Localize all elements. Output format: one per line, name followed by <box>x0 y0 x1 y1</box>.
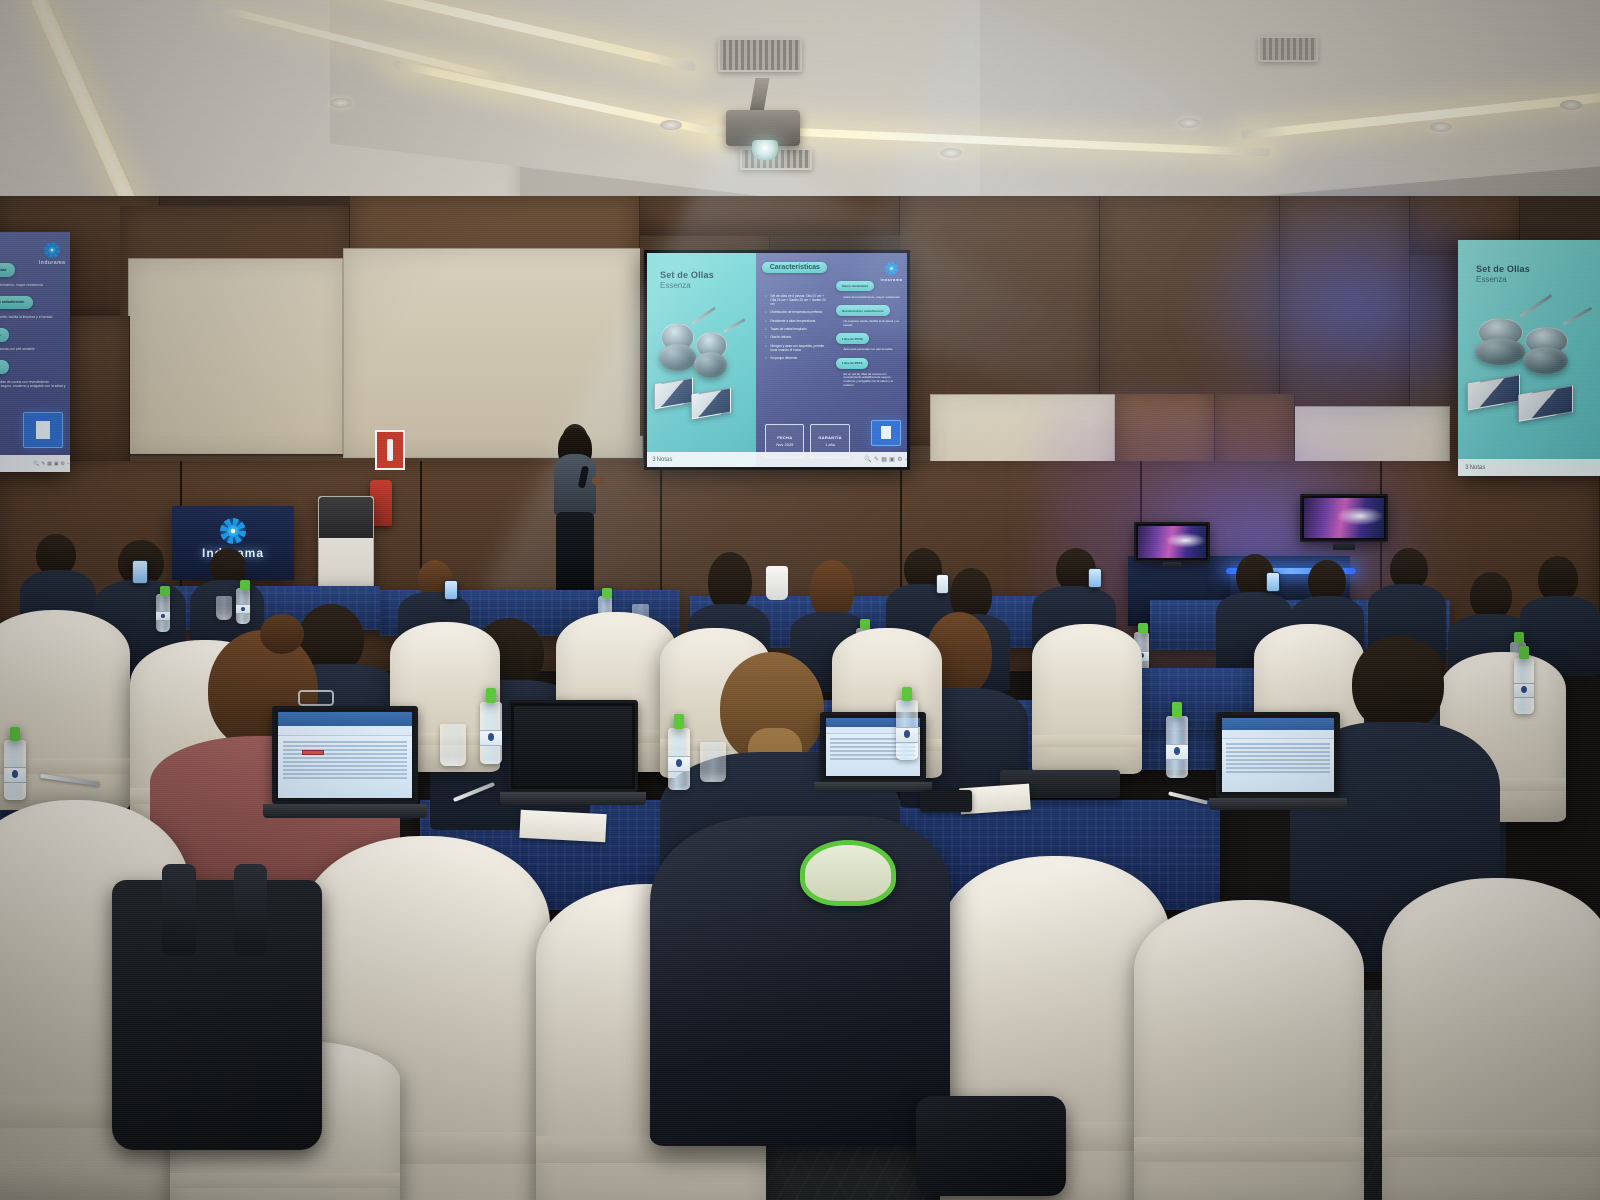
laptop-lid <box>508 700 638 792</box>
pointer-icon[interactable]: ✎ <box>874 456 879 463</box>
brand-logo: Indurama <box>39 242 66 266</box>
backpack[interactable] <box>112 880 322 1150</box>
callout: Mayor durabilidad Color del recubrimient… <box>0 263 65 287</box>
info-box-label: GARANTÍA <box>818 435 842 440</box>
callout-label: Recubrimiento antiadherente <box>836 305 889 316</box>
tv-screen <box>1134 522 1210 562</box>
pointer-icon[interactable]: ✎ <box>41 461 45 467</box>
slide-product-title: Set de Ollas <box>660 271 743 280</box>
presentation-status-bar[interactable]: 3 Notas ▦ <box>1458 459 1600 476</box>
paper-cup[interactable] <box>766 566 788 600</box>
backpack-strap <box>234 864 268 956</box>
callout: Recubrimiento antiadherente No requiere … <box>0 296 65 320</box>
center-projection-screen[interactable]: Set de Ollas Essenza Características <box>644 250 910 470</box>
callout: Libre de PFAS Es un set de ollas de coci… <box>0 360 65 392</box>
water-bottle[interactable] <box>480 702 502 764</box>
callout-text: No requiere aceite, facilita la limpieza… <box>836 320 902 327</box>
tv-screen <box>1300 494 1388 542</box>
banquet-chair <box>1134 900 1364 1200</box>
drinking-glass[interactable] <box>216 596 232 620</box>
pan-handle <box>723 318 745 333</box>
drinking-glass[interactable] <box>440 724 466 766</box>
presenter-hand <box>592 476 604 485</box>
pan-handle <box>1562 307 1592 326</box>
callout-text: Es un set de ollas de cocina con revesti… <box>836 373 902 387</box>
hvac-vent <box>718 38 802 72</box>
cap[interactable] <box>800 840 896 906</box>
info-box-label: FECHA <box>777 435 792 440</box>
presentation-status-bar[interactable]: 3 Notas 🔍 ✎ ▦ ▣ ⚙ − ⤢ <box>647 452 907 467</box>
tv-stand <box>1163 562 1181 568</box>
callout: Recubrimiento antiadherente No requiere … <box>836 305 902 327</box>
attendee-head <box>1352 636 1444 732</box>
callout-text: Color del recubrimiento, mayor resistenc… <box>0 283 65 287</box>
slide-product-subtitle: Essenza <box>1476 275 1590 284</box>
grid-icon[interactable]: ▦ <box>881 456 887 463</box>
settings-icon[interactable]: ⚙ <box>60 461 64 467</box>
product-box <box>654 377 693 408</box>
flower-gear-icon <box>220 518 246 544</box>
recessed-downlight <box>660 120 682 130</box>
callout-text: Color del recubrimiento, mayor resistenc… <box>836 296 902 300</box>
attendee-head <box>810 560 854 620</box>
slide-indicator: 3 <box>652 457 655 463</box>
slide-right-panel: Indurama Mayor durabilidad Color del rec… <box>0 232 70 472</box>
slide-surface-right: Set de Ollas Essenza <box>1458 240 1600 476</box>
laptop-screen <box>278 712 412 798</box>
small-tv-left[interactable] <box>1134 522 1210 562</box>
brand-logo: Indurama <box>880 262 902 282</box>
attendee-head <box>708 552 752 612</box>
notes-button[interactable]: Notas <box>1470 465 1486 471</box>
slide-left-panel: Set de Ollas Essenza <box>647 253 756 467</box>
callout-text: Apto para personas con piel sensible <box>0 347 65 351</box>
banquet-chair <box>1382 878 1600 1200</box>
highlighted-cell <box>302 750 323 755</box>
water-bottle[interactable] <box>896 700 918 760</box>
laptop-lid <box>272 706 418 804</box>
water-bottle[interactable] <box>668 728 690 790</box>
pan-handle <box>1520 294 1553 318</box>
bullet-item: ▪Tapas de cristal templado <box>765 327 828 331</box>
slide-product-subtitle: Essenza <box>660 281 743 290</box>
presenter-icon[interactable]: ▣ <box>889 456 895 463</box>
slide-callouts: Mayor durabilidad Color del recubrimient… <box>0 263 65 400</box>
recessed-downlight <box>1178 118 1200 128</box>
recessed-downlight <box>940 148 962 158</box>
callout-text: Es un set de ollas de cocina con revesti… <box>0 380 65 392</box>
conference-room-photo: Indurama Mayor durabilidad Color del rec… <box>0 0 1600 1200</box>
smartphone[interactable] <box>920 790 972 812</box>
attendee-head <box>1470 572 1512 620</box>
callout-label: Recubrimiento antiadherente <box>0 296 33 310</box>
cooking-pot <box>1523 347 1568 374</box>
grid-icon[interactable]: ▦ <box>47 461 52 467</box>
bullet-item: ▪Set de ollas de 6 piezas: Olla 20 cm + … <box>765 294 828 306</box>
slide-feature-bullets: ▪Set de ollas de 6 piezas: Olla 20 cm + … <box>765 294 828 365</box>
projector-lens <box>752 140 778 160</box>
callout-text: Apto para personas con piel sensible <box>836 348 902 352</box>
laptop-base <box>263 804 427 818</box>
windows-security-icon <box>871 420 901 446</box>
notepad[interactable] <box>519 810 606 842</box>
wall-cream-panel <box>128 258 343 454</box>
settings-icon[interactable]: ⚙ <box>897 456 902 463</box>
callout-text: No requiere aceite, facilita la limpieza… <box>0 315 65 319</box>
callout: Libre de PFOA Apto para personas con pie… <box>836 333 902 352</box>
presenter <box>540 424 610 614</box>
zoom-icon[interactable]: 🔍 <box>33 461 39 467</box>
product-image-pots <box>656 317 748 420</box>
pan-handle <box>692 307 716 325</box>
tv-stand <box>1333 542 1354 550</box>
bullet-item: ▪Resistente a altas temperaturas <box>765 319 828 323</box>
callout-label: Libre de PFOA <box>836 333 869 344</box>
fire-extinguisher-sign <box>375 430 405 470</box>
flower-gear-icon <box>885 262 898 275</box>
laptop-lid <box>1216 712 1340 798</box>
notes-button[interactable]: Notas <box>657 457 673 463</box>
zoom-icon[interactable]: 🔍 <box>864 456 871 463</box>
windows-security-icon <box>23 412 63 448</box>
smartphone[interactable] <box>132 560 148 584</box>
slide-section-heading: Características <box>762 262 827 274</box>
recessed-downlight <box>1560 100 1582 110</box>
laptop-base <box>814 782 933 792</box>
attendee <box>1520 556 1600 668</box>
callout: Libre de PFOA Apto para personas con pie… <box>0 328 65 352</box>
callout-label: Libre de PFAS <box>836 358 868 369</box>
laptop-base <box>500 792 646 805</box>
bullet-item: ▪Diseño italiano <box>765 335 828 339</box>
smartphone[interactable] <box>1088 568 1102 588</box>
smartphone[interactable] <box>444 580 458 600</box>
slide-surface-left: Indurama Mayor durabilidad Color del rec… <box>0 232 70 472</box>
laptop[interactable] <box>272 706 418 804</box>
laptop-screen <box>1222 718 1334 792</box>
presentation-status-bar[interactable]: 3 Notas 🔍 ✎ ▦ ▣ ⚙ − ⤢ <box>0 455 70 472</box>
wood-panel <box>640 196 900 236</box>
slide-indicator: 3 <box>1465 465 1468 471</box>
minus-icon[interactable]: − <box>905 457 909 463</box>
laptop[interactable] <box>1216 712 1340 798</box>
laptop[interactable] <box>508 700 638 792</box>
water-bottle[interactable] <box>236 588 250 624</box>
backpack-strap <box>162 864 196 956</box>
product-image-pots <box>1470 311 1596 424</box>
water-bottle[interactable] <box>1166 716 1188 778</box>
slide-left-panel: Set de Ollas Essenza <box>1458 240 1600 476</box>
cooking-pot <box>694 352 727 378</box>
eyeglasses <box>298 690 334 706</box>
slide-product-title: Set de Ollas <box>1476 265 1590 274</box>
water-bottle[interactable] <box>156 594 170 632</box>
info-box-value: Nov 2025 <box>776 442 793 447</box>
water-bottle[interactable] <box>1514 658 1534 714</box>
smartphone[interactable] <box>1266 572 1280 592</box>
cooking-pot <box>659 344 696 371</box>
callout-label: Mayor durabilidad <box>0 263 15 277</box>
recessed-downlight <box>1430 122 1452 132</box>
bag[interactable] <box>916 1096 1066 1196</box>
laptop-base <box>1209 798 1348 810</box>
info-box-value: 1 año <box>825 442 835 447</box>
right-projection-screen[interactable]: Set de Ollas Essenza <box>1458 240 1600 476</box>
slide-surface-main: Set de Ollas Essenza Características <box>647 253 907 467</box>
callout-label: Mayor durabilidad <box>836 281 874 292</box>
slide-right-panel: Características Indurama ▪Set de ollas d… <box>756 253 907 467</box>
product-box <box>1518 385 1573 422</box>
laptop-screen <box>514 706 632 786</box>
minus-icon[interactable]: − <box>67 461 70 467</box>
banquet-chair <box>1032 624 1142 774</box>
presenter-torso <box>554 454 596 516</box>
left-projection-screen[interactable]: Indurama Mayor durabilidad Color del rec… <box>0 232 70 472</box>
callout-label: Libre de PFOA <box>0 328 9 342</box>
bullet-item: ▪Mangos y asas con baquelita, permite to… <box>765 344 828 352</box>
presenter-icon[interactable]: ▣ <box>54 461 59 467</box>
callout: Libre de PFAS Es un set de ollas de coci… <box>836 358 902 387</box>
slide-callouts: Mayor durabilidad Color del recubrimient… <box>836 281 902 393</box>
recessed-downlight <box>330 98 352 108</box>
water-bottle[interactable] <box>4 740 26 800</box>
flower-gear-icon <box>44 242 60 258</box>
product-box <box>691 388 731 420</box>
large-tv-right[interactable] <box>1300 494 1388 542</box>
drinking-glass[interactable] <box>700 742 726 782</box>
callout: Mayor durabilidad Color del recubrimient… <box>836 281 902 300</box>
bullet-item: ▪Distribución de temperatura perfecta <box>765 310 828 314</box>
hair-bun <box>260 614 304 654</box>
callout-label: Libre de PFAS <box>0 360 9 374</box>
bullet-item: ▪Empaque diferente <box>765 356 828 360</box>
cooking-pot <box>1475 338 1525 365</box>
product-box <box>1467 374 1520 411</box>
hvac-vent <box>1258 36 1318 62</box>
